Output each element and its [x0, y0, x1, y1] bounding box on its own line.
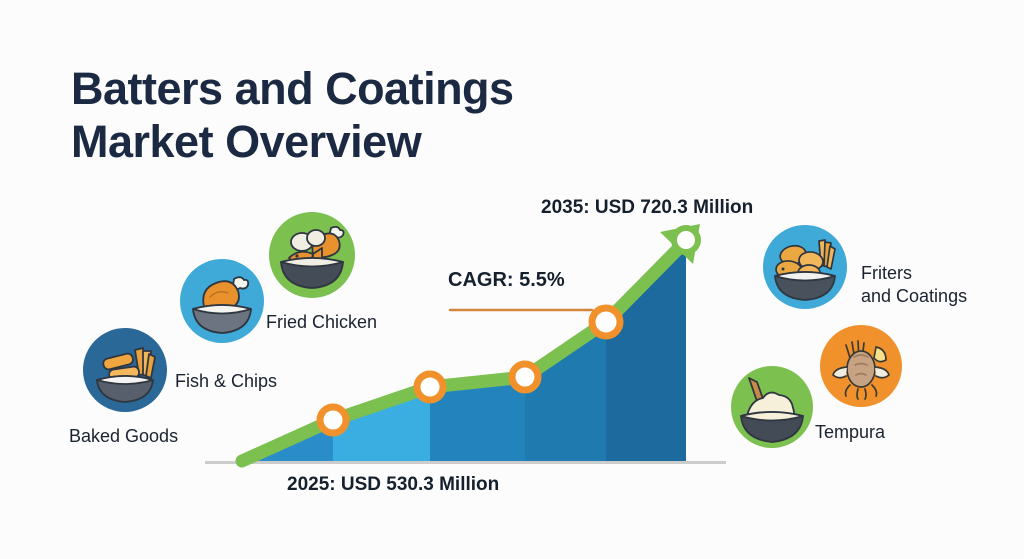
cagr-callout: CAGR: 5.5% [448, 269, 565, 292]
end-value-callout: 2035: USD 720.3 Million [541, 197, 753, 219]
cagr-leader-line [450, 310, 606, 322]
trend-endpoint-marker [677, 231, 695, 249]
category-label-fried-chicken: Fried Chicken [266, 311, 377, 334]
data-point-marker-4[interactable] [592, 308, 620, 336]
bowl-fish-sticks-fries-icon[interactable] [83, 328, 167, 412]
start-value-callout: 2025: USD 530.3 Million [287, 474, 499, 496]
data-point-marker-1[interactable] [320, 407, 346, 433]
category-label-tempura: Tempura [815, 421, 885, 444]
area-segment-3 [430, 200, 525, 462]
infographic-canvas: Batters and Coatings Market Overview [0, 0, 1024, 559]
tempura-squid-icon[interactable] [820, 325, 902, 407]
bowl-drumstick-icon[interactable] [180, 259, 264, 343]
category-label-friters-and-coatings: Fritersand Coatings [861, 262, 1001, 308]
data-point-marker-3[interactable] [512, 364, 538, 390]
bowl-fried-fish-chicken-icon[interactable] [269, 212, 355, 298]
x-axis-line [205, 461, 726, 464]
data-point-marker-2[interactable] [417, 374, 443, 400]
category-label-fish-chips: Fish & Chips [175, 370, 277, 393]
category-label-baked-goods: Baked Goods [69, 425, 178, 448]
bowl-fritters-fries-icon[interactable] [763, 225, 847, 309]
bowl-batter-spoon-icon[interactable] [731, 366, 813, 448]
